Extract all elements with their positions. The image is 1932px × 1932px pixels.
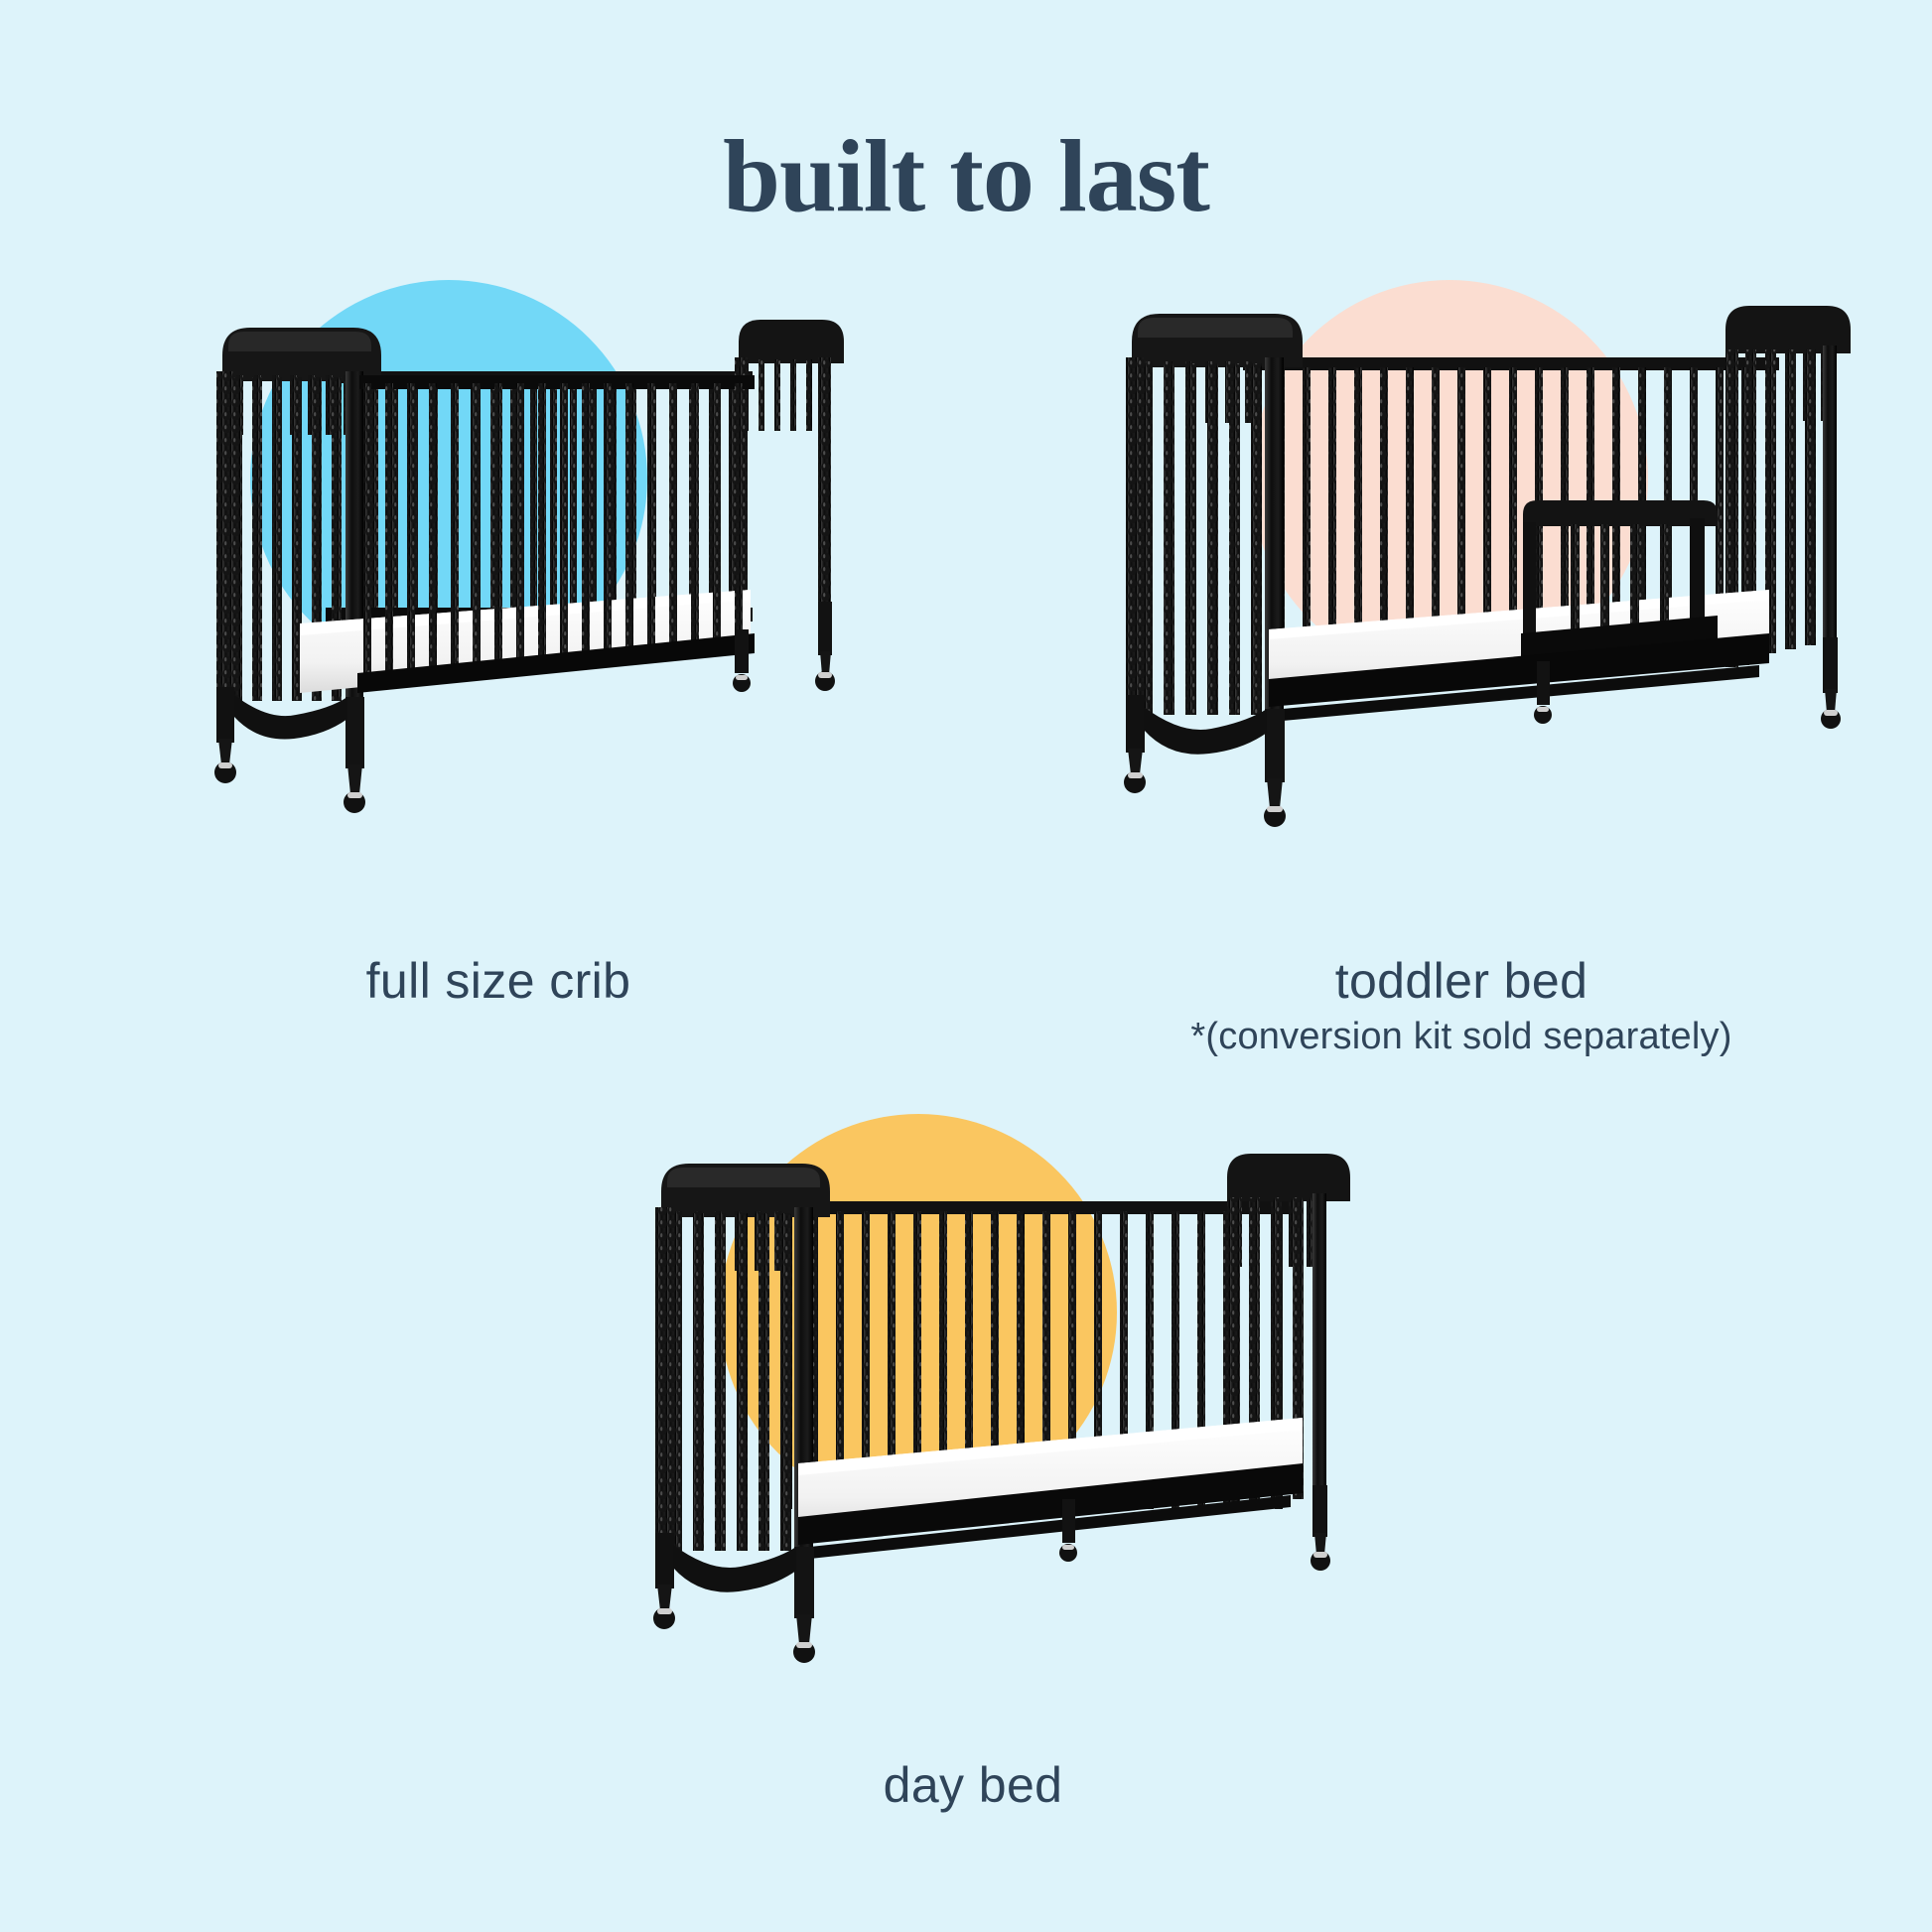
day-bed-illustration xyxy=(596,1114,1350,1670)
product-card-day-bed xyxy=(596,1114,1350,1670)
caption-full-size-crib-label: full size crib xyxy=(151,953,846,1009)
caption-full-size-crib: full size crib xyxy=(151,953,846,1009)
caption-toddler-bed-label: toddler bed xyxy=(1035,953,1888,1009)
product-card-full-size-crib xyxy=(151,280,846,836)
infographic-canvas: built to last xyxy=(0,0,1932,1932)
product-card-toddler-bed xyxy=(1074,280,1888,836)
caption-day-bed: day bed xyxy=(596,1757,1350,1813)
caption-toddler-bed: toddler bed *(conversion kit sold separa… xyxy=(1035,953,1888,1060)
caption-day-bed-label: day bed xyxy=(596,1757,1350,1813)
toddler-bed-illustration xyxy=(1074,280,1888,836)
full-size-crib-illustration xyxy=(151,280,846,836)
caption-toddler-bed-note: *(conversion kit sold separately) xyxy=(1035,1015,1888,1060)
page-title: built to last xyxy=(0,117,1932,236)
